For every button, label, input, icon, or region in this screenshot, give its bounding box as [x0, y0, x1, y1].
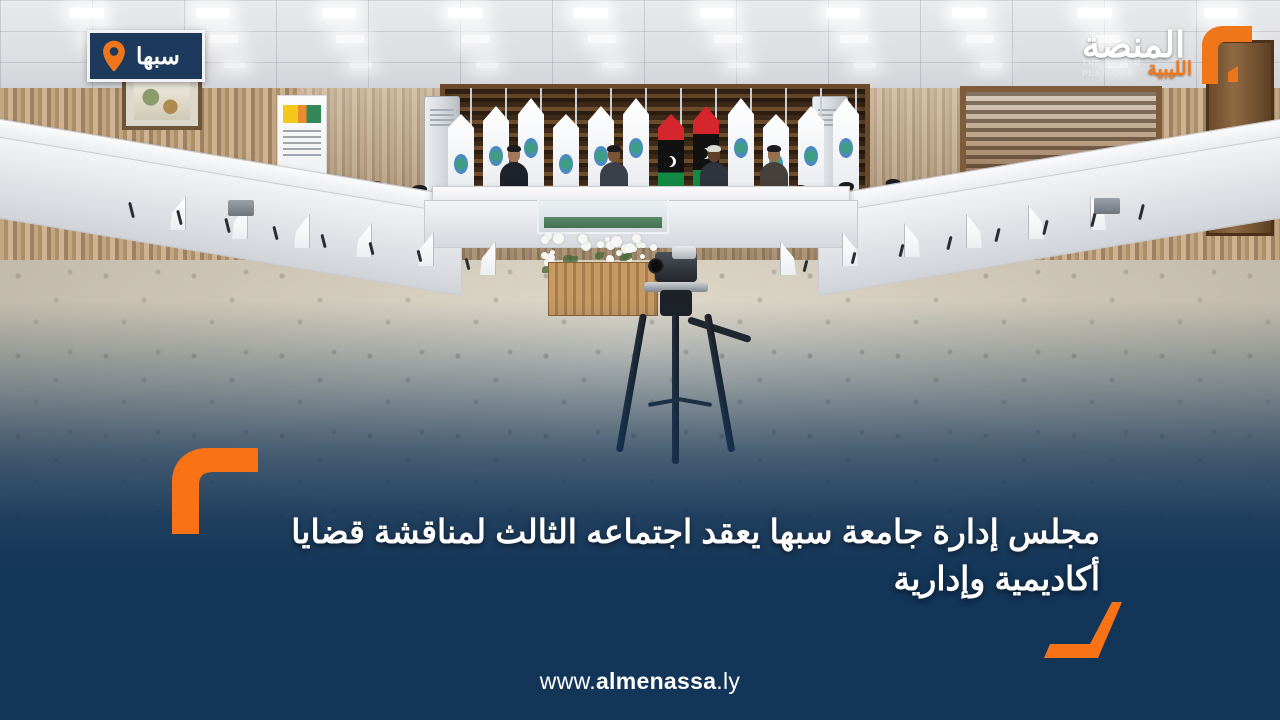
logo-subtitle-row: الليبية THE LIBYAN PLATFORM: [1082, 59, 1192, 79]
logo-bracket-icon: [1198, 22, 1256, 86]
logo-name-secondary: الليبية: [1147, 60, 1192, 79]
location-badge[interactable]: سبها: [87, 30, 205, 82]
headline-text: مجلس إدارة جامعة سبها يعقد اجتماعه الثال…: [200, 509, 1100, 603]
location-label: سبها: [136, 45, 180, 68]
logo-text-group: المنصة الليبية THE LIBYAN PLATFORM: [1082, 18, 1192, 79]
decor-bracket-right-icon: [1028, 600, 1124, 660]
logo-name-primary: المنصة: [1082, 28, 1185, 61]
logo-tagline-line1: THE LIBYAN: [1082, 59, 1141, 68]
logo-tagline-line2: PLATFORM: [1082, 69, 1135, 78]
news-card: سبها المنصة الليبية THE LIBYAN PLATFORM: [0, 0, 1280, 720]
logo-tagline-en: THE LIBYAN PLATFORM: [1082, 59, 1141, 79]
map-pin-icon: [102, 40, 126, 72]
url-brand: almenassa: [596, 668, 716, 694]
site-url[interactable]: www.almenassa.ly: [0, 668, 1280, 695]
url-prefix: www.: [540, 668, 596, 694]
site-logo[interactable]: المنصة الليبية THE LIBYAN PLATFORM: [1082, 18, 1256, 86]
url-tld: .ly: [716, 668, 740, 694]
